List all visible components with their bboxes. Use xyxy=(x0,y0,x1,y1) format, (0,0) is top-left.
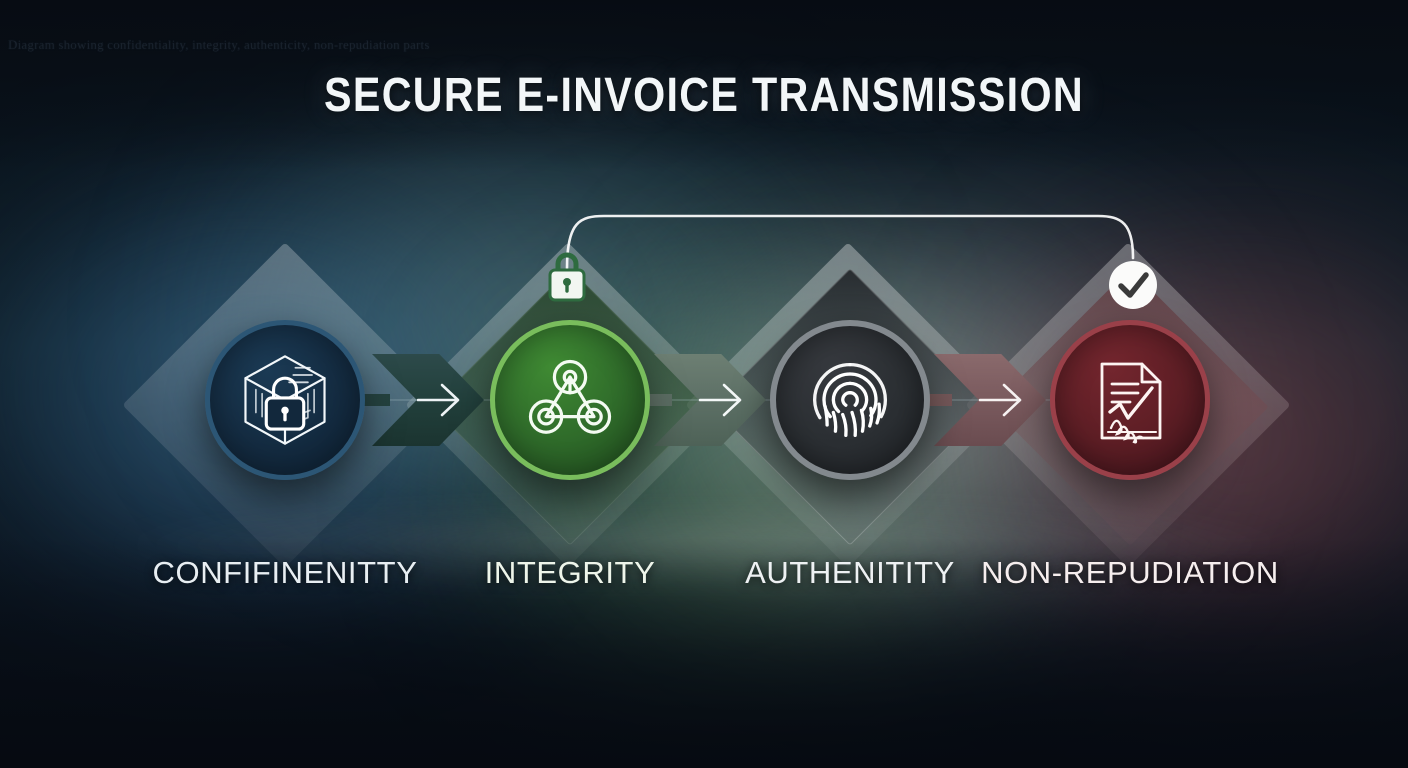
signed-document-icon xyxy=(1080,350,1180,450)
label-confidentiality: CONFIFINENITTY xyxy=(120,555,450,591)
alt-text-caption: Diagram showing confidentiality, integri… xyxy=(8,37,430,53)
interlocking-knot-icon xyxy=(518,348,622,452)
fingerprint-icon xyxy=(798,348,902,452)
cube-padlock-icon xyxy=(233,348,337,452)
diagram-canvas: Diagram showing confidentiality, integri… xyxy=(0,0,1408,768)
label-nonrepudiation: NON-REPUDIATION xyxy=(965,555,1295,591)
page-title: SECURE E-INVOICE TRANSMISSION xyxy=(99,68,1310,123)
